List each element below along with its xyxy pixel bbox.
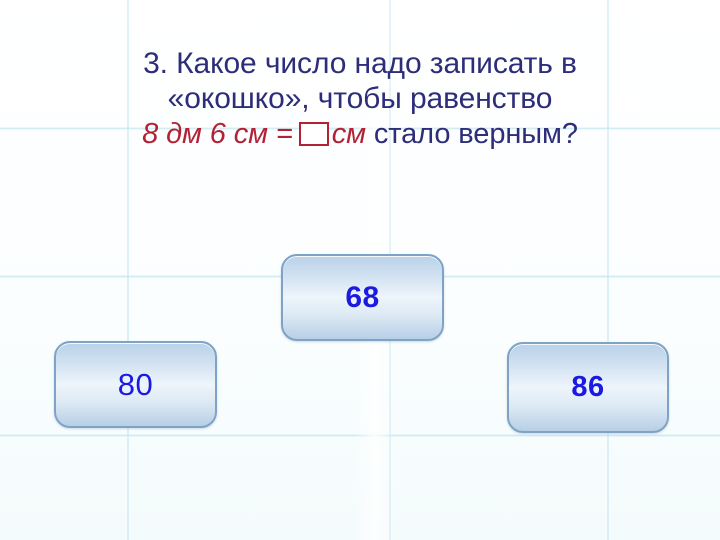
question-line-1: 3. Какое число надо записать в xyxy=(0,48,720,80)
question-tail-text: стало верным? xyxy=(374,118,578,150)
equation-unit: см xyxy=(332,118,366,150)
question-line-3-tail xyxy=(366,118,374,150)
answer-option-86-label: 86 xyxy=(571,373,604,402)
answer-option-86[interactable]: 86 xyxy=(507,342,669,433)
question-line-2: «окошко», чтобы равенство xyxy=(0,83,720,115)
equation-expression: 8 дм 6 см = xyxy=(142,118,293,150)
answer-option-80[interactable]: 80 xyxy=(54,341,217,428)
answer-option-80-label: 80 xyxy=(118,369,153,400)
grid-line-horizontal xyxy=(0,434,720,437)
answer-option-68-label: 68 xyxy=(345,283,379,313)
answer-option-68[interactable]: 68 xyxy=(281,254,444,341)
question-text: 3. Какое число надо записать в «окошко»,… xyxy=(0,48,720,149)
slide-canvas: 3. Какое число надо записать в «окошко»,… xyxy=(0,0,720,540)
question-line-3: 8 дм 6 см =см стало верным? xyxy=(0,119,720,150)
answer-box-blank[interactable] xyxy=(299,122,329,146)
